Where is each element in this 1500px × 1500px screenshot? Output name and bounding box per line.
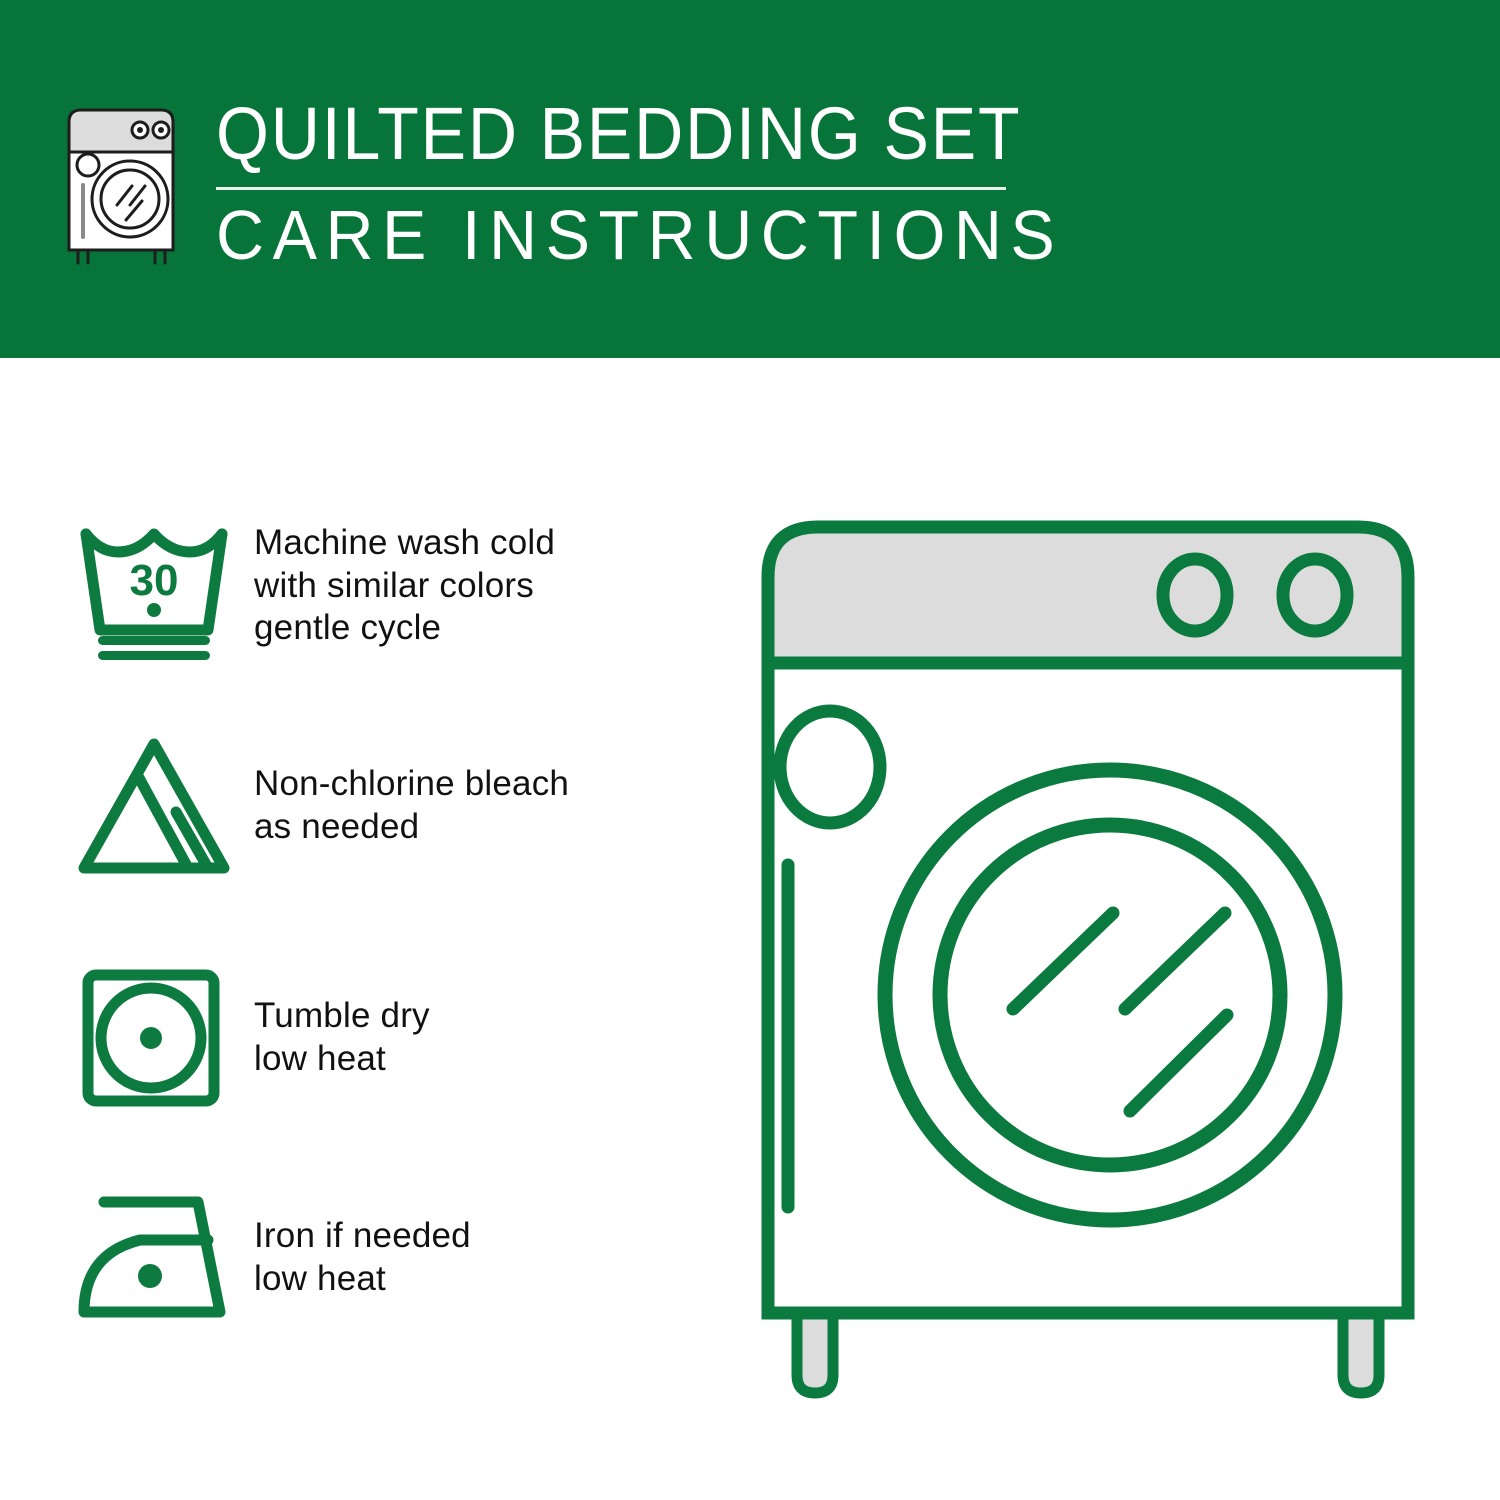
- wash-tub-30-icon: 30: [70, 506, 240, 666]
- care-instructions-list: 30 Machine wash cold with similar colors…: [0, 358, 740, 1500]
- care-label: Non-chlorine bleach as needed: [254, 763, 569, 848]
- bleach-triangle-icon: [70, 726, 240, 886]
- drum-inner-ring: [940, 825, 1280, 1165]
- tumble-dry-icon: [70, 958, 240, 1118]
- control-knob-right: [1283, 559, 1347, 631]
- control-knob-left: [1163, 559, 1227, 631]
- page-subtitle: CARE INSTRUCTIONS: [216, 200, 1063, 270]
- detergent-dispenser: [780, 711, 880, 823]
- wash-temperature-value: 30: [130, 556, 179, 605]
- care-label: Machine wash cold with similar colors ge…: [254, 522, 555, 650]
- care-row: Tumble dry low heat: [70, 958, 730, 1118]
- care-row: 30 Machine wash cold with similar colors…: [70, 506, 730, 666]
- header-banner: QUILTED BEDDING SET CARE INSTRUCTIONS: [0, 0, 1500, 358]
- care-row: Non-chlorine bleach as needed: [70, 726, 730, 886]
- title-divider: [216, 187, 1006, 190]
- header-content: QUILTED BEDDING SET CARE INSTRUCTIONS: [62, 98, 1108, 270]
- washing-machine-icon: [62, 102, 188, 267]
- page-title: QUILTED BEDDING SET: [216, 98, 1037, 171]
- large-washing-machine-illustration: [735, 495, 1465, 1425]
- care-label: Iron if needed low heat: [254, 1215, 471, 1300]
- care-label: Tumble dry low heat: [254, 995, 430, 1080]
- title-block: QUILTED BEDDING SET CARE INSTRUCTIONS: [216, 98, 1108, 270]
- care-row: Iron if needed low heat: [70, 1178, 730, 1338]
- washer-legs: [797, 1307, 1379, 1393]
- iron-icon: [70, 1178, 240, 1338]
